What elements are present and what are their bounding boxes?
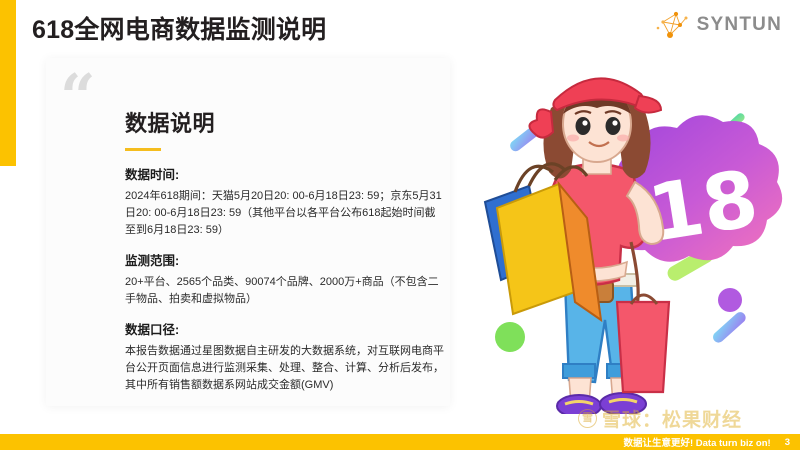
page-title: 618全网电商数据监测说明 (32, 10, 326, 46)
section-body: 2024年618期间：天猫5月20日20: 00-6月18日23: 59；京东5… (125, 188, 445, 239)
section-data-caliber: 数据口径: 本报告数据通过星图数据自主研发的大数据系统，对互联网电商平台公开页面… (125, 319, 445, 394)
left-accent-bar (0, 0, 16, 166)
slide-root: 618全网电商数据监测说明 SYNTUN “ 数据说明 (0, 0, 800, 450)
footer-page-number: 3 (785, 437, 790, 448)
section-monitor-scope: 监测范围: 20+平台、2565个品类、90074个品牌、2000万+商品（不包… (125, 250, 445, 308)
section-body: 20+平台、2565个品类、90074个品牌、2000万+商品（不包含二手物品、… (125, 274, 445, 308)
section-heading: 数据口径: (125, 319, 445, 338)
shopping-girl-618-illustration: 618 (455, 42, 800, 414)
title-underline-rule (125, 148, 161, 151)
syntun-logo: SYNTUN (656, 8, 782, 42)
syntun-logo-text: SYNTUN (697, 14, 782, 36)
quote-mark-icon: “ (60, 66, 96, 128)
card-title: 数据说明 (125, 106, 445, 138)
card-content: 数据说明 数据时间: 2024年618期间：天猫5月20日20: 00-6月18… (125, 106, 445, 405)
section-data-time: 数据时间: 2024年618期间：天猫5月20日20: 00-6月18日23: … (125, 164, 445, 239)
footer-bar: 数据让生意更好! Data turn biz on! 3 (0, 434, 800, 450)
section-heading: 数据时间: (125, 164, 445, 183)
network-nodes-icon (656, 9, 692, 41)
section-body: 本报告数据通过星图数据自主研发的大数据系统，对互联网电商平台公开页面信息进行监测… (125, 343, 445, 394)
section-heading: 监测范围: (125, 250, 445, 269)
footer-slogan: 数据让生意更好! Data turn biz on! (623, 435, 770, 449)
